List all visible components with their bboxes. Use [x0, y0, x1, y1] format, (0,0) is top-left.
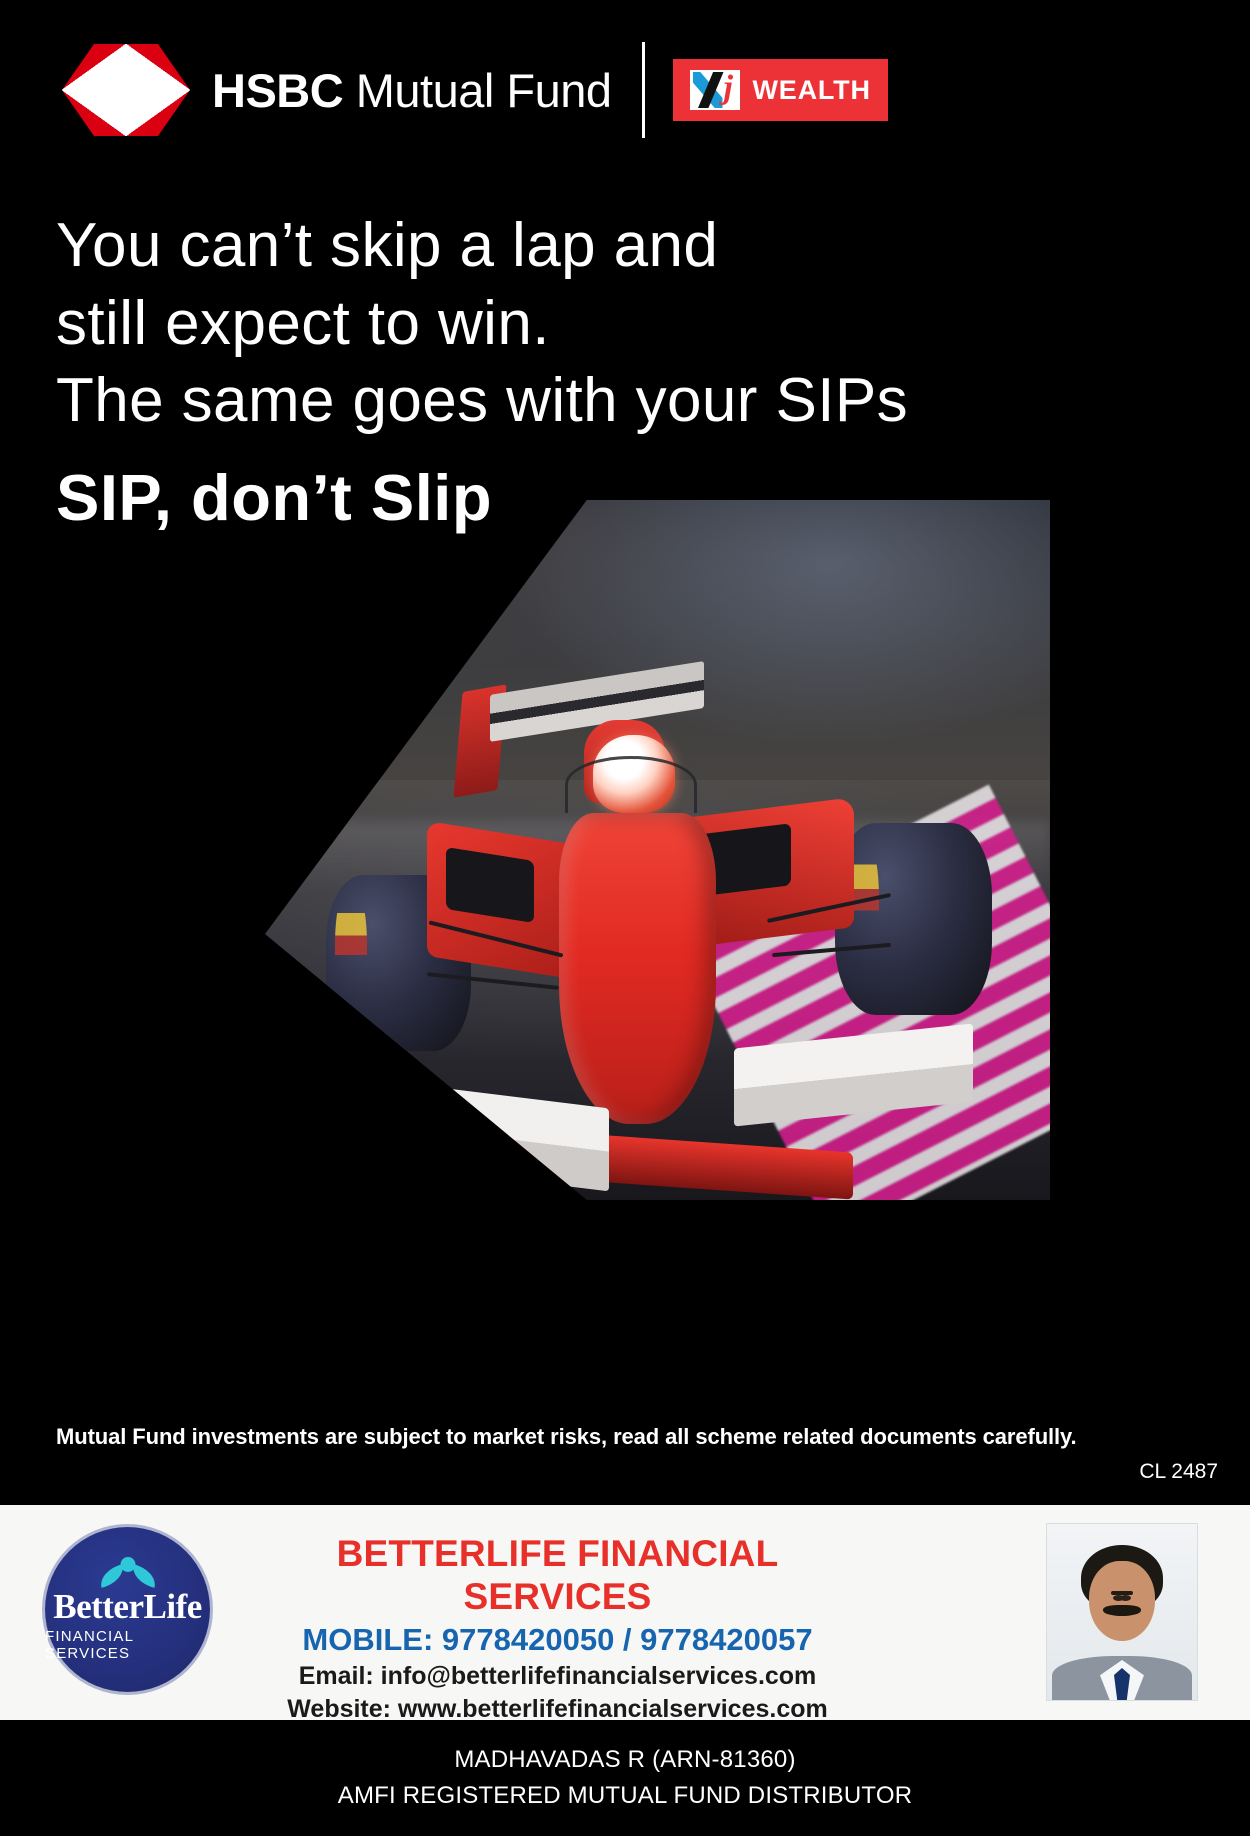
distributor-footer: BetterLife FINANCIAL SERVICES BETTERLIFE…: [0, 1505, 1250, 1720]
front-wing-left: [358, 1077, 609, 1191]
firm-name: BETTERLIFE FINANCIAL SERVICES: [255, 1533, 860, 1618]
nj-monogram-icon: j: [690, 70, 740, 110]
formula-one-car: [351, 668, 979, 1186]
firm-email[interactable]: Email: info@betterlifefinancialservices.…: [255, 1660, 860, 1693]
firm-mobile[interactable]: MOBILE: 9778420050 / 9778420057: [255, 1620, 860, 1660]
advisor-photo: [1046, 1523, 1198, 1701]
risk-disclaimer: Mutual Fund investments are subject to m…: [56, 1424, 1077, 1450]
hsbc-brand-text: HSBC: [212, 64, 343, 117]
header-logos: HSBC Mutual Fund j WEALTH: [0, 0, 1250, 180]
betterlife-logo-name: BetterLife: [53, 1589, 202, 1624]
tagline: SIP, don’t Slip: [56, 460, 492, 535]
hsbc-logo-lockup: HSBC Mutual Fund: [62, 44, 612, 136]
headline-line-2: still expect to win.: [56, 285, 956, 363]
contact-block: BETTERLIFE FINANCIAL SERVICES MOBILE: 97…: [255, 1533, 860, 1726]
amfi-registration-text: AMFI REGISTERED MUTUAL FUND DISTRIBUTOR: [338, 1778, 913, 1814]
headline-line-1: You can’t skip a lap and: [56, 207, 956, 285]
betterlife-logo: BetterLife FINANCIAL SERVICES: [45, 1527, 210, 1692]
nj-j-glyph: j: [724, 74, 736, 107]
hsbc-wordmark: HSBC Mutual Fund: [212, 67, 612, 114]
logo-divider: [642, 42, 645, 138]
sprout-icon: [99, 1557, 157, 1587]
hsbc-product-text: Mutual Fund: [343, 64, 611, 117]
halo-device: [565, 756, 697, 813]
nj-wealth-label: WEALTH: [753, 75, 871, 106]
compliance-code: CL 2487: [1139, 1460, 1218, 1484]
hsbc-hexagon-icon: [62, 44, 190, 136]
nj-wealth-badge: j WEALTH: [673, 59, 888, 121]
betterlife-logo-subtitle: FINANCIAL SERVICES: [45, 1628, 210, 1662]
front-wing-right: [734, 1023, 973, 1126]
rear-right-tyre: [835, 823, 992, 1015]
arn-bar: MADHAVADAS R (ARN-81360) AMFI REGISTERED…: [0, 1720, 1250, 1836]
car-nose-cone: [559, 813, 716, 1124]
headline-line-3: The same goes with your SIPs: [56, 362, 956, 440]
headline: You can’t skip a lap and still expect to…: [56, 207, 956, 440]
distributor-name: MADHAVADAS R (ARN-81360): [454, 1742, 795, 1778]
marketing-poster: HSBC Mutual Fund j WEALTH You can’t skip…: [0, 0, 1250, 1836]
race-car-photo: [265, 500, 1050, 1200]
